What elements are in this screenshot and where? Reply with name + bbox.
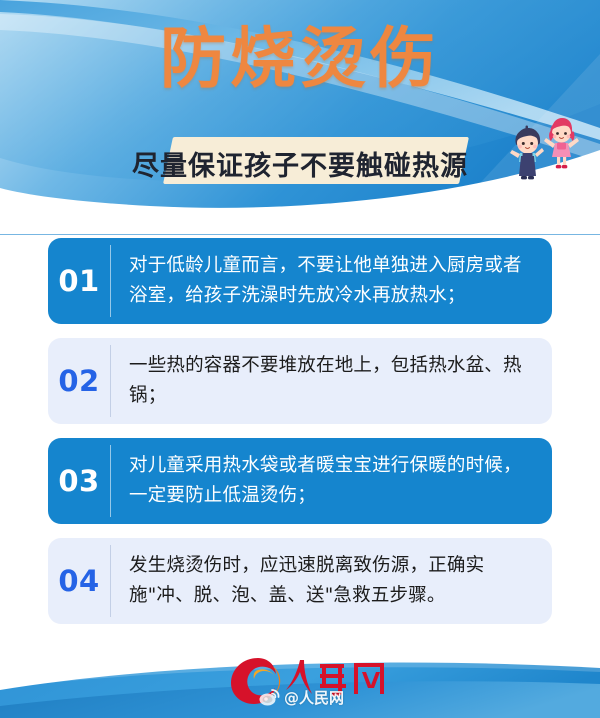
header-divider-rule [0,234,600,235]
page-title: 防烧烫伤 [0,22,600,96]
tip-text-02: 一些热的容器不要堆放在地上，包括热水盆、热锅； [111,338,552,424]
children-illustration [503,108,598,190]
tip-text-01: 对于低龄儿童而言，不要让他单独进入厨房或者浴室，给孩子洗澡时先放冷水再放热水； [111,238,552,324]
tip-text-04: 发生烧烫伤时，应迅速脱离致伤源，正确实施"冲、脱、泡、盖、送"急救五步骤。 [111,538,552,624]
girl-figure [544,118,579,168]
tip-card-01[interactable]: 01 对于低龄儿童而言，不要让他单独进入厨房或者浴室，给孩子洗澡时先放冷水再放热… [48,238,552,324]
poster-header: 防烧烫伤 尽量保证孩子不要触碰热源 [0,0,600,235]
tip-number-03: 03 [48,464,110,498]
weibo-watermark: @人民网 [258,686,344,708]
weibo-icon [258,686,280,708]
tips-card-list: 01 对于低龄儿童而言，不要让他单独进入厨房或者浴室，给孩子洗澡时先放冷水再放热… [48,238,552,638]
tip-number-04: 04 [48,564,110,598]
poster-footer: @人民网 [0,640,600,718]
tip-card-02[interactable]: 02 一些热的容器不要堆放在地上，包括热水盆、热锅； [48,338,552,424]
infographic-poster: 防烧烫伤 尽量保证孩子不要触碰热源 [0,0,600,718]
tip-card-03[interactable]: 03 对儿童采用热水袋或者暖宝宝进行保暖的时候，一定要防止低温烫伤； [48,438,552,524]
boy-figure [510,126,544,180]
tip-text-03: 对儿童采用热水袋或者暖宝宝进行保暖的时候，一定要防止低温烫伤； [111,438,552,524]
tip-card-04[interactable]: 04 发生烧烫伤时，应迅速脱离致伤源，正确实施"冲、脱、泡、盖、送"急救五步骤。 [48,538,552,624]
tip-number-02: 02 [48,364,110,398]
tip-number-01: 01 [48,264,110,298]
weibo-handle: @人民网 [284,687,344,708]
